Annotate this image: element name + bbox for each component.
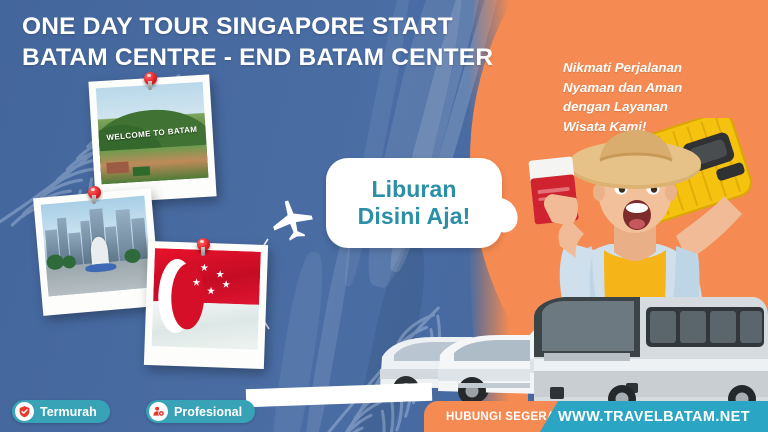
badge-profesional[interactable]: Profesional — [146, 400, 255, 423]
vehicles-photo — [380, 295, 768, 410]
bubble-line-1: Liburan — [371, 176, 456, 203]
page-title: ONE DAY TOUR SINGAPORE START BATAM CENTR… — [22, 12, 502, 73]
website-url-label: WWW.TRAVELBATAM.NET — [558, 409, 750, 425]
badge-termurah[interactable]: Termurah — [12, 400, 110, 423]
title-line-1: ONE DAY TOUR SINGAPORE START — [22, 12, 502, 43]
tagline-line-1: Nikmati Perjalanan — [563, 58, 763, 78]
red-pushpin-icon — [144, 72, 157, 85]
tagline-line-2: Nyaman dan Aman — [563, 78, 763, 98]
photo-card-merlion — [33, 188, 161, 316]
photo-singapore-flag: ★ ★ ★ ★ ★ — [152, 248, 261, 350]
shield-check-icon — [15, 402, 34, 421]
bubble-line-2: Disini Aja! — [358, 203, 471, 230]
promo-banner: ONE DAY TOUR SINGAPORE START BATAM CENTR… — [0, 0, 768, 432]
red-pushpin-icon — [197, 238, 210, 251]
tagline-line-3: dengan Layanan — [563, 97, 763, 117]
badge-profesional-label: Profesional — [174, 405, 242, 419]
speech-bubble: Liburan Disini Aja! — [326, 158, 502, 248]
photo-merlion-singapore — [41, 196, 153, 297]
photo-welcome-to-batam: WELCOME TO BATAM — [96, 82, 209, 184]
website-url-bar[interactable]: WWW.TRAVELBATAM.NET — [540, 401, 768, 432]
title-line-2: BATAM CENTRE - END BATAM CENTER — [22, 43, 502, 74]
photo-card-singapore-flag: ★ ★ ★ ★ ★ — [144, 241, 268, 369]
person-gear-icon — [149, 402, 168, 421]
contact-cta-label: HUBUNGI SEGERA — [446, 411, 556, 423]
badge-termurah-label: Termurah — [40, 405, 97, 419]
photo-card-welcome-batam: WELCOME TO BATAM — [88, 74, 216, 203]
red-pushpin-icon — [88, 186, 101, 199]
